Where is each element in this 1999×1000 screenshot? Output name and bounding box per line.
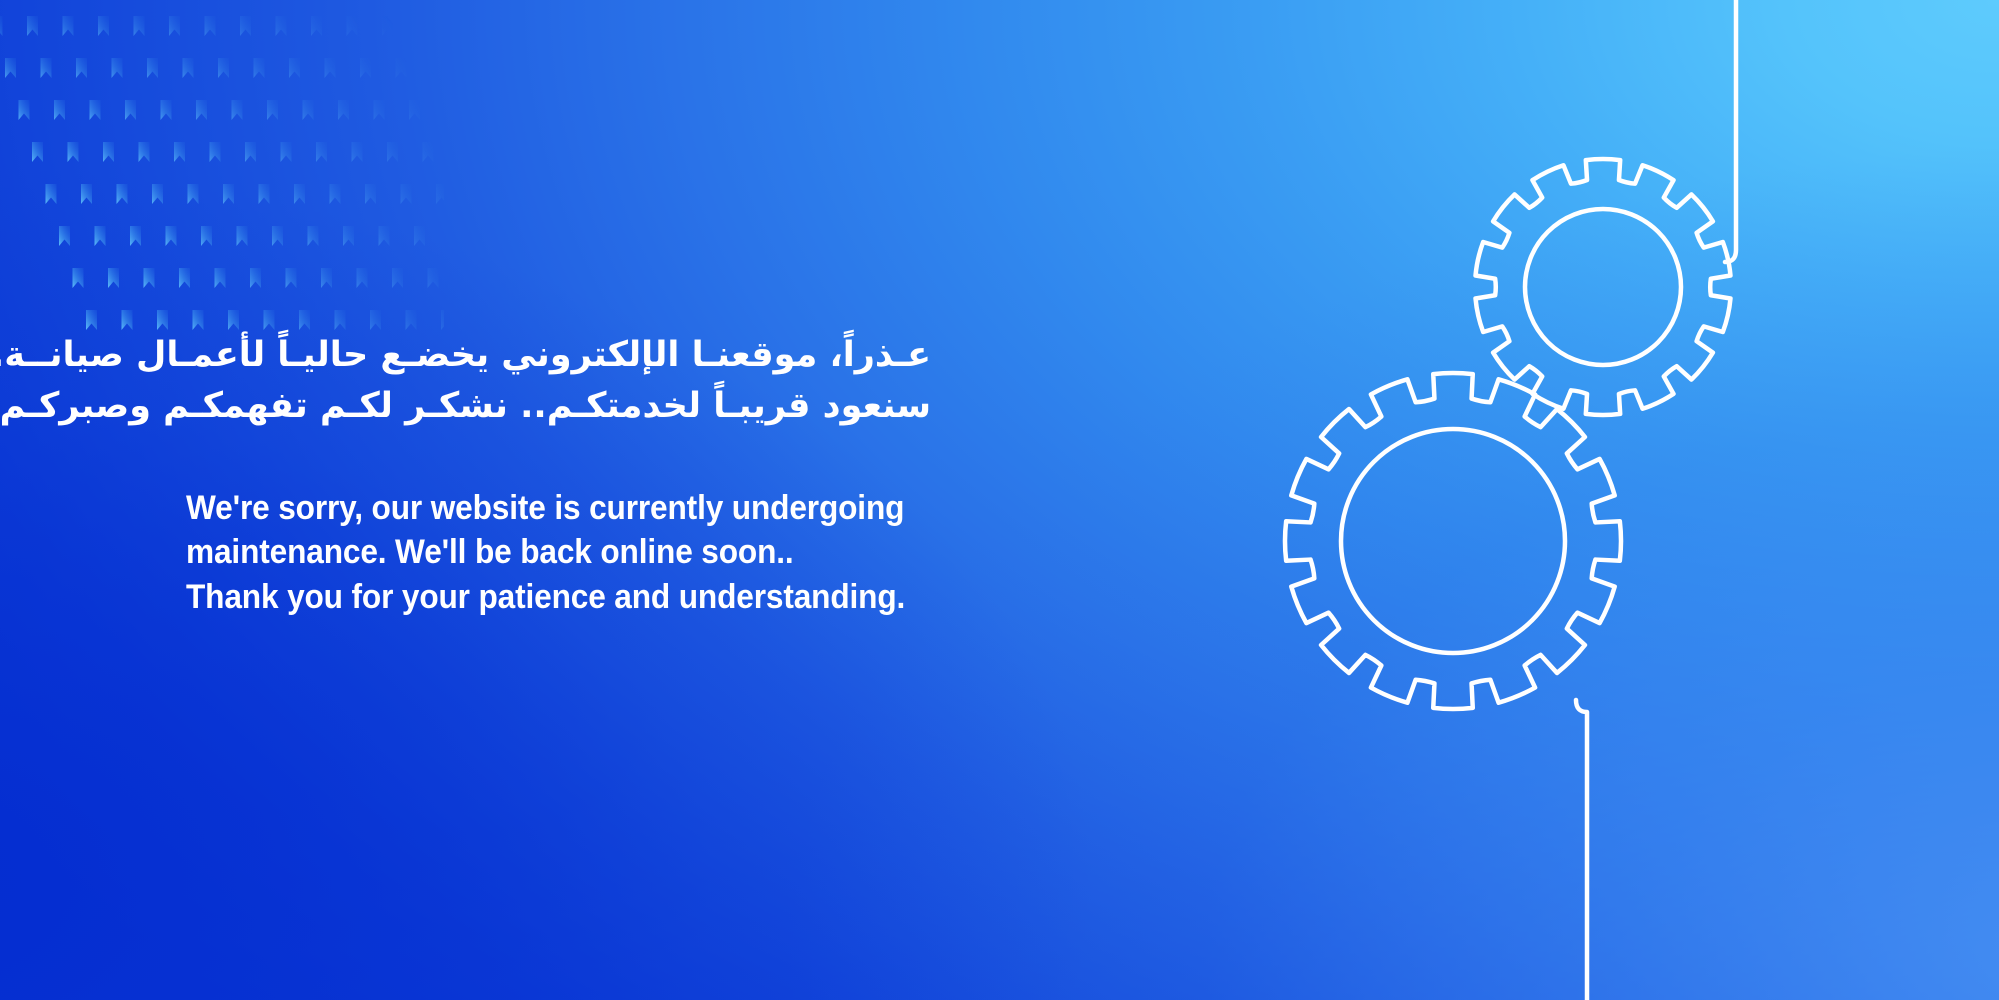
message-block: عـذراً، موقعنـا الإلكتروني يخضـع حاليـاً… [186,330,1146,619]
english-line-3: Thank you for your patience and understa… [186,575,1079,620]
english-line-2: maintenance. We'll be back online soon.. [186,530,1079,575]
arabic-line-1: عـذراً، موقعنـا الإلكتروني يخضـع حاليـاً… [186,330,931,381]
maintenance-page: عـذراً، موقعنـا الإلكتروني يخضـع حاليـاً… [0,0,1999,1000]
arabic-line-2: سنعود قريبـاً لخدمتكـم.. نشكـر لكـم تفهم… [186,381,931,432]
english-line-1: We're sorry, our website is currently un… [186,486,1079,531]
english-message: We're sorry, our website is currently un… [186,486,1079,620]
arabic-message: عـذراً، موقعنـا الإلكتروني يخضـع حاليـاً… [186,330,931,433]
